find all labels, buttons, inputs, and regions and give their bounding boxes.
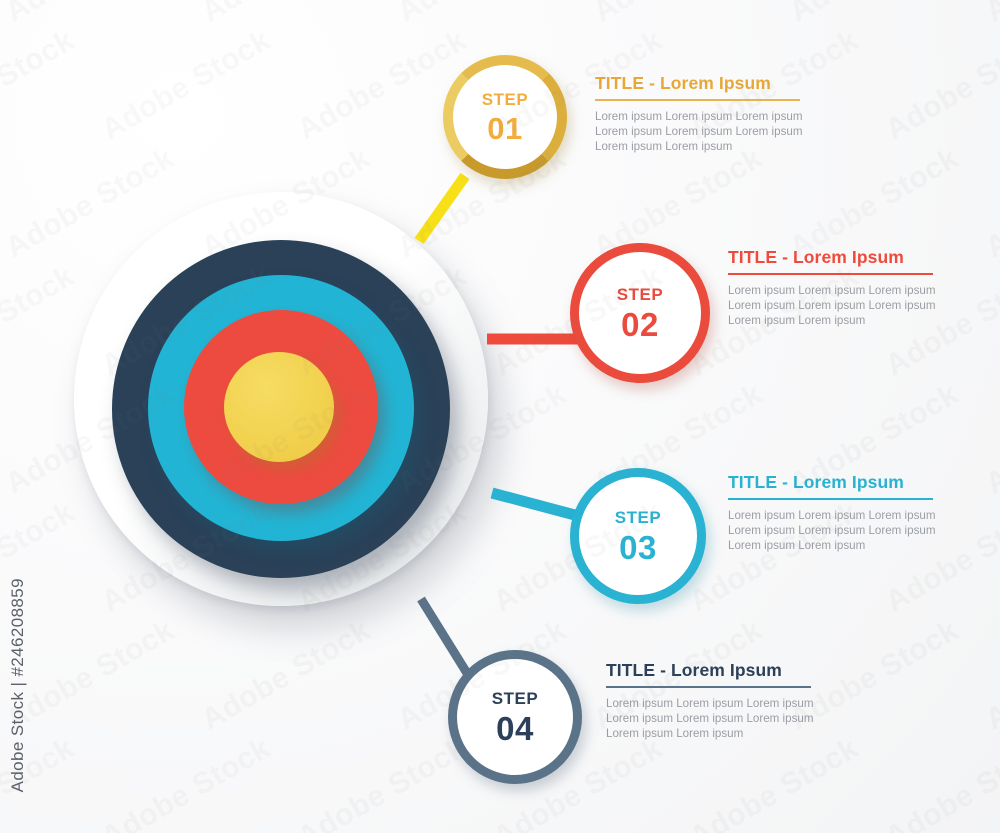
watermark-text: Adobe Stock bbox=[980, 0, 1000, 29]
watermark-text: Adobe Stock bbox=[0, 24, 81, 148]
watermark-text: Adobe Stock bbox=[196, 0, 377, 29]
concentric-target bbox=[74, 192, 510, 640]
step-badge-04[interactable]: STEP 04 bbox=[448, 650, 582, 784]
step-badge-number-04: 04 bbox=[496, 712, 534, 745]
step-body-03: Lorem ipsum Lorem ipsum Lorem ipsum Lore… bbox=[728, 508, 933, 554]
step-body-line: Lorem ipsum Lorem ipsum Lorem ipsum bbox=[595, 124, 800, 139]
step-badge-label-04: STEP bbox=[492, 690, 538, 707]
watermark-text: Adobe Stock bbox=[880, 732, 1000, 833]
step-body-line: Lorem ipsum Lorem ipsum Lorem ipsum bbox=[728, 508, 933, 523]
watermark-text: Adobe Stock bbox=[588, 0, 769, 29]
step-body-02: Lorem ipsum Lorem ipsum Lorem ipsum Lore… bbox=[728, 283, 933, 329]
step-title-underline-01 bbox=[595, 99, 800, 101]
step-title-03: TITLE - Lorem Ipsum bbox=[728, 472, 933, 498]
step-title-02: TITLE - Lorem Ipsum bbox=[728, 247, 933, 273]
step-title-04: TITLE - Lorem Ipsum bbox=[606, 660, 811, 686]
step-body-line: Lorem ipsum Lorem ipsum Lorem ipsum bbox=[728, 283, 933, 298]
watermark-text: Adobe Stock bbox=[684, 732, 865, 833]
step-badge-label-01: STEP bbox=[482, 91, 528, 108]
step-badge-01[interactable]: STEP 01 bbox=[443, 55, 567, 179]
step-title-underline-02 bbox=[728, 273, 933, 275]
step-title-underline-03 bbox=[728, 498, 933, 500]
watermark-text: Adobe Stock bbox=[392, 0, 573, 29]
step-body-line: Lorem ipsum Lorem ipsum Lorem ipsum bbox=[728, 523, 933, 538]
step-body-line: Lorem ipsum Lorem ipsum bbox=[728, 313, 933, 328]
step-text-block-01: TITLE - Lorem Ipsum Lorem ipsum Lorem ip… bbox=[595, 73, 800, 154]
infographic-canvas: STEP 01 TITLE - Lorem Ipsum Lorem ipsum … bbox=[0, 0, 1000, 833]
step-badge-03[interactable]: STEP 03 bbox=[570, 468, 706, 604]
step-body-line: Lorem ipsum Lorem ipsum Lorem ipsum bbox=[595, 109, 800, 124]
step-body-line: Lorem ipsum Lorem ipsum bbox=[606, 726, 811, 741]
step-badge-number-02: 02 bbox=[621, 308, 659, 341]
step-title-01: TITLE - Lorem Ipsum bbox=[595, 73, 800, 99]
watermark-text: Adobe Stock bbox=[980, 614, 1000, 738]
step-body-line: Lorem ipsum Lorem ipsum bbox=[595, 139, 800, 154]
watermark-id-text: Adobe Stock | #246208859 bbox=[8, 578, 28, 792]
watermark-text: Adobe Stock bbox=[784, 0, 965, 29]
step-body-line: Lorem ipsum Lorem ipsum bbox=[728, 538, 933, 553]
step-badge-label-02: STEP bbox=[617, 286, 663, 303]
step-text-block-03: TITLE - Lorem Ipsum Lorem ipsum Lorem ip… bbox=[728, 472, 933, 553]
step-badge-number-01: 01 bbox=[487, 113, 522, 144]
step-body-line: Lorem ipsum Lorem ipsum Lorem ipsum bbox=[606, 711, 811, 726]
step-body-01: Lorem ipsum Lorem ipsum Lorem ipsum Lore… bbox=[595, 109, 800, 155]
watermark-text: Adobe Stock bbox=[292, 732, 473, 833]
target-bullseye-yellow bbox=[224, 352, 334, 462]
watermark-text: Adobe Stock bbox=[0, 260, 81, 384]
watermark-text: Adobe Stock bbox=[980, 142, 1000, 266]
step-badge-02[interactable]: STEP 02 bbox=[570, 243, 710, 383]
step-badge-label-03: STEP bbox=[615, 509, 661, 526]
step-body-line: Lorem ipsum Lorem ipsum Lorem ipsum bbox=[728, 298, 933, 313]
watermark-text: Adobe Stock bbox=[96, 732, 277, 833]
watermark-text: Adobe Stock bbox=[980, 378, 1000, 502]
step-title-underline-04 bbox=[606, 686, 811, 688]
step-badge-number-03: 03 bbox=[619, 531, 657, 564]
step-text-block-02: TITLE - Lorem Ipsum Lorem ipsum Lorem ip… bbox=[728, 247, 933, 328]
watermark-text: Adobe Stock bbox=[0, 0, 181, 29]
watermark-text: Adobe Stock bbox=[880, 24, 1000, 148]
step-body-line: Lorem ipsum Lorem ipsum Lorem ipsum bbox=[606, 696, 811, 711]
step-text-block-04: TITLE - Lorem Ipsum Lorem ipsum Lorem ip… bbox=[606, 660, 811, 741]
watermark-text: Adobe Stock bbox=[96, 24, 277, 148]
step-body-04: Lorem ipsum Lorem ipsum Lorem ipsum Lore… bbox=[606, 696, 811, 742]
